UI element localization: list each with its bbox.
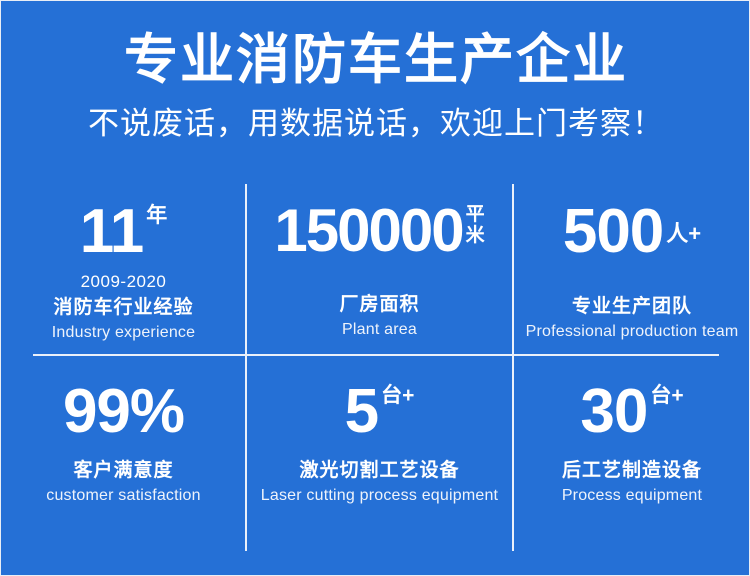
stats-grid: 11 年 2009-2020 消防车行业经验 Industry experien… (1, 179, 750, 557)
stat-number: 150000 (274, 201, 462, 261)
stat-label-cn: 专业生产团队 (572, 295, 692, 319)
stat-year-range: 2009-2020 (81, 272, 167, 292)
grid-divider-vertical-left (245, 184, 247, 551)
stat-cell-laser-cutting-equipment: 5 台+ 激光切割工艺设备 Laser cutting process equi… (246, 355, 513, 557)
stat-label-cn: 厂房面积 (339, 293, 419, 317)
stat-cell-production-team: 500 人+ 专业生产团队 Professional production te… (513, 179, 750, 355)
stat-label-en: Industry experience (52, 323, 195, 343)
page-subtitle: 不说废话，用数据说话，欢迎上门考察！ (1, 91, 750, 143)
stat-unit: 平 米 (463, 201, 485, 246)
stat-label-en: Process equipment (562, 486, 702, 506)
stat-label-en: Professional production team (526, 322, 739, 342)
stat-label-cn: 后工艺制造设备 (562, 459, 702, 483)
stat-label-cn: 激光切割工艺设备 (299, 459, 459, 483)
stat-unit: 年 (143, 201, 167, 226)
stat-unit-bottom: 米 (466, 225, 485, 246)
stat-number: 30 (580, 381, 647, 443)
poster-header: 专业消防车生产企业 不说废话，用数据说话，欢迎上门考察！ (1, 1, 750, 143)
stat-number-row: 150000 平 米 (274, 201, 484, 261)
stat-label-cn: 消防车行业经验 (53, 296, 193, 320)
stat-number-row: 99% (63, 381, 184, 443)
stat-unit: 台+ (378, 381, 414, 406)
stat-unit: 台+ (647, 381, 683, 406)
stat-cell-industry-experience: 11 年 2009-2020 消防车行业经验 Industry experien… (1, 179, 246, 355)
stat-unit: 人+ (663, 201, 701, 244)
promo-poster: 专业消防车生产企业 不说废话，用数据说话，欢迎上门考察！ 11 年 2009-2… (0, 0, 750, 576)
stat-label-en: Laser cutting process equipment (261, 486, 498, 506)
stat-number-row: 5 台+ (345, 381, 415, 443)
stat-unit-top: 平 (466, 204, 485, 225)
stat-cell-customer-satisfaction: 99% 客户满意度 customer satisfaction (1, 355, 246, 557)
stat-number-row: 500 人+ (563, 201, 701, 263)
grid-divider-horizontal (33, 354, 719, 356)
stat-label-en: customer satisfaction (46, 486, 200, 506)
stat-label-en: Plant area (342, 320, 417, 340)
stat-number-row: 30 台+ (580, 381, 683, 443)
grid-divider-vertical-right (512, 184, 514, 551)
stat-cell-plant-area: 150000 平 米 厂房面积 Plant area (246, 179, 513, 355)
stat-cell-process-equipment: 30 台+ 后工艺制造设备 Process equipment (513, 355, 750, 557)
stat-number: 11 (80, 201, 144, 263)
stat-number-row: 11 年 (80, 201, 168, 263)
page-title: 专业消防车生产企业 (1, 1, 750, 91)
stat-label-cn: 客户满意度 (73, 459, 173, 483)
stat-number: 5 (345, 381, 378, 443)
stat-number: 99% (63, 381, 184, 443)
stat-number: 500 (563, 201, 663, 263)
